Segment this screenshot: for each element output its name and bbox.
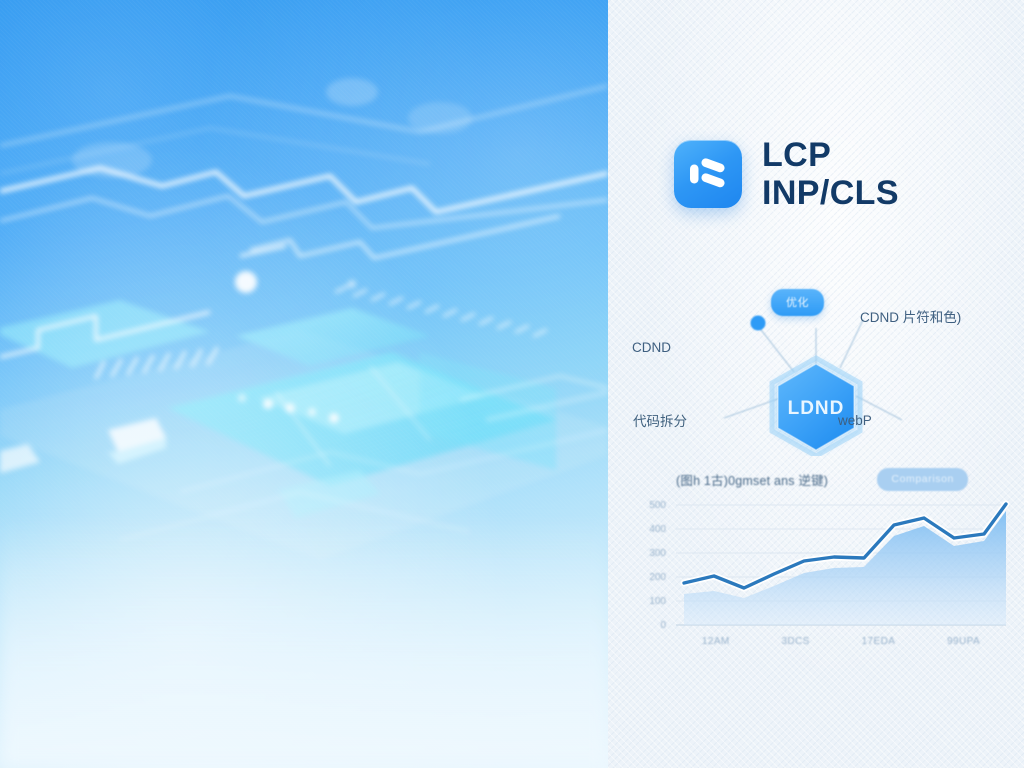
photo-grain-texture	[0, 0, 608, 768]
x-tick: 12AM	[702, 636, 730, 647]
diagram-node-code-split: 代码拆分	[633, 410, 687, 430]
hero-photo-panel	[0, 0, 608, 768]
infographic-stage: LCP INP/CLS	[0, 0, 1024, 768]
chart-area-series	[684, 511, 1006, 625]
x-tick: 99UPA	[947, 636, 980, 647]
metrics-chart-block: (图h 1古)0gmset ans 逆键) Comparison 500 400…	[608, 462, 1024, 660]
stacked-bars-logo-icon	[688, 157, 728, 191]
brand-header: LCP INP/CLS	[674, 136, 899, 213]
diagram-node-dot	[751, 316, 766, 331]
diagram-node-webp: webP	[838, 413, 872, 428]
diagram-node-cdnd-left: CDND	[632, 340, 671, 355]
chart-header: (图h 1古)0gmset ans 逆键) Comparison	[676, 462, 968, 496]
brand-logo	[674, 140, 742, 208]
page-title: LCP INP/CLS	[762, 136, 899, 213]
x-tick: 17EDA	[862, 636, 896, 647]
chart-x-axis: 12AM 3DCS 17EDA 99UPA	[676, 636, 1006, 647]
chart-title: (图h 1古)0gmset ans 逆键)	[676, 470, 828, 489]
chart-plot-area: 500 400 300 200 100 0	[608, 500, 1024, 660]
diagram-node-cdnd-right: CDND 片符和色)	[860, 306, 961, 326]
x-tick: 3DCS	[781, 636, 809, 647]
architecture-diagram: 优化 LDND CDND CDND 片符和色) 代码拆分 webP	[608, 268, 1024, 456]
info-panel: LCP INP/CLS	[608, 0, 1024, 768]
chart-legend-badge[interactable]: Comparison	[877, 468, 968, 491]
diagram-top-pill: 优化	[771, 289, 824, 316]
